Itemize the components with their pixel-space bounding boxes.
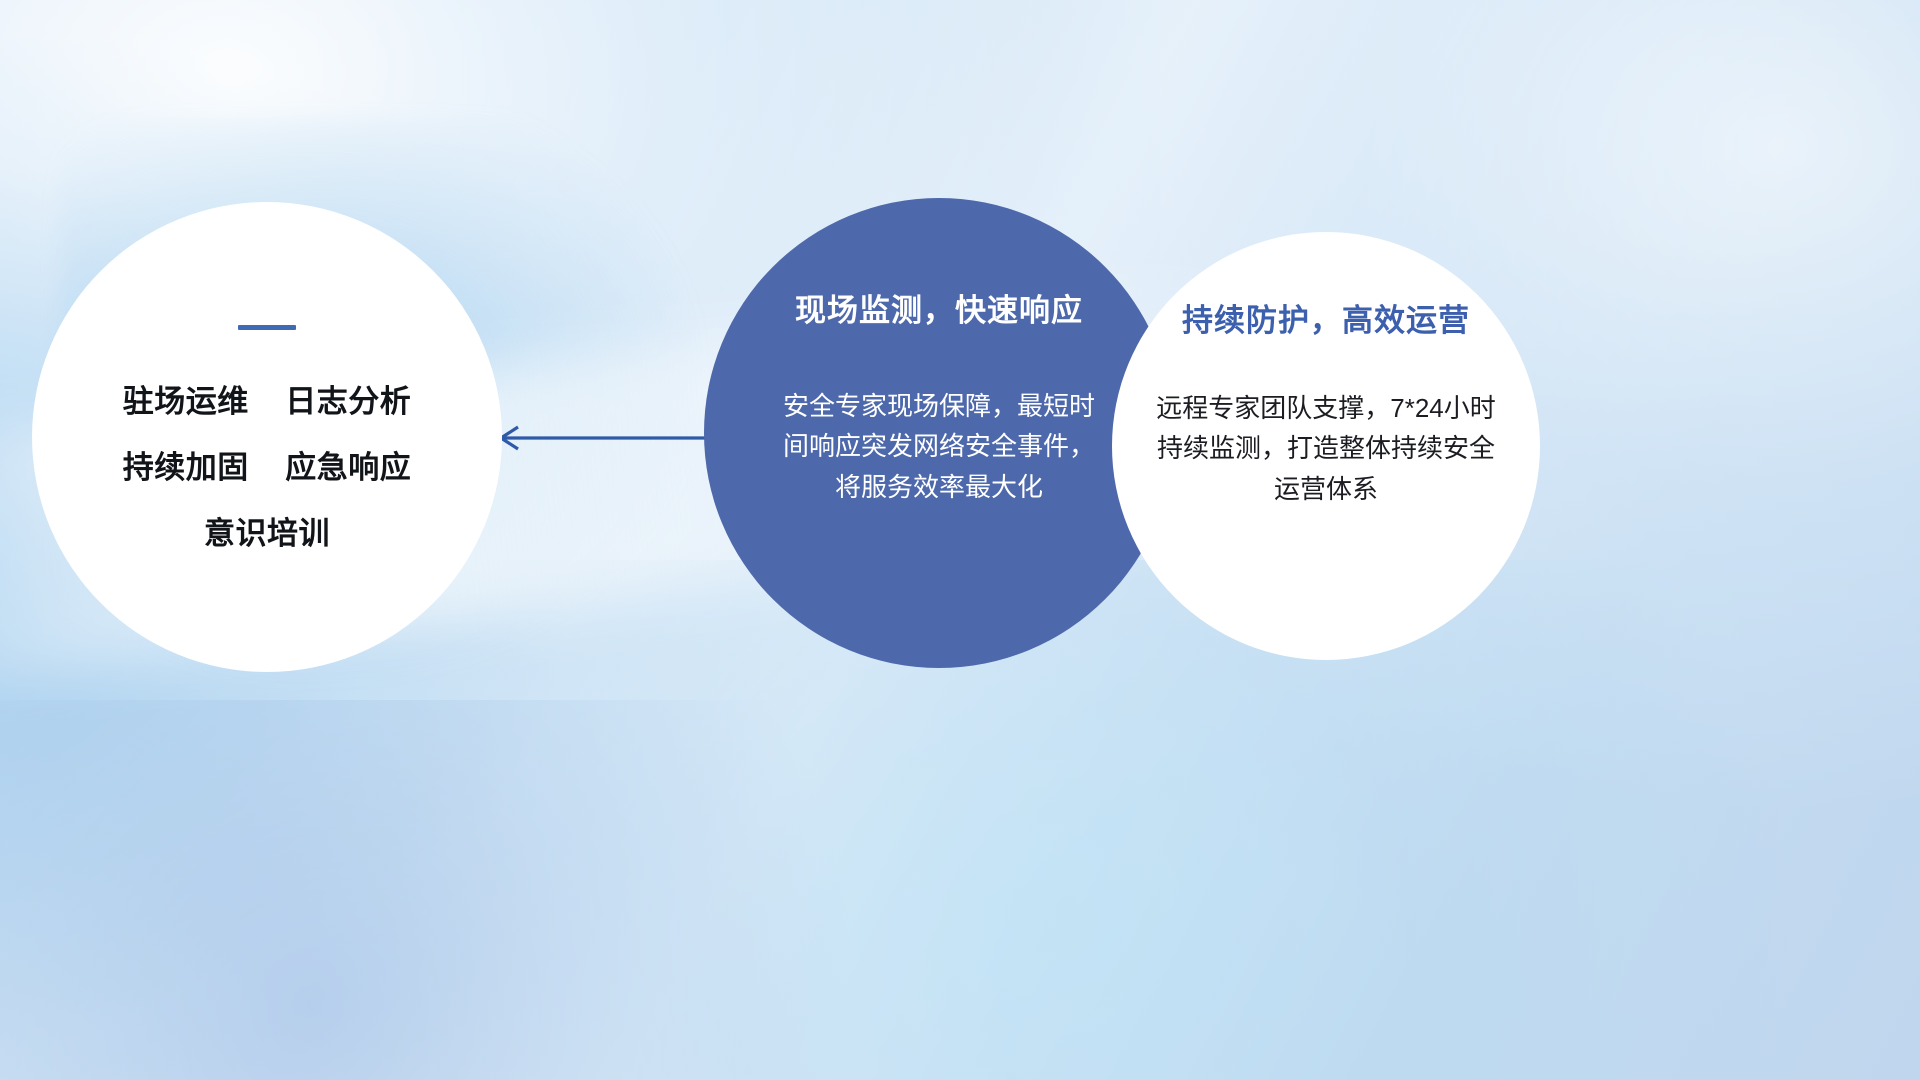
dash-divider-icon: [238, 325, 296, 330]
capability-tag-line-2: 持续加固 应急响应: [123, 452, 411, 483]
feature-body-continuous: 远程专家团队支撑，7*24小时持续监测，打造整体持续安全运营体系: [1150, 388, 1502, 509]
slide-canvas: 驻场运维 日志分析 持续加固 应急响应 意识培训 现场监测，快速响应 安全专家现…: [0, 0, 1920, 1080]
background-glow-bottom-left: [0, 700, 860, 1080]
feature-title-onsite: 现场监测，快速响应: [795, 294, 1083, 328]
capability-circle-left[interactable]: 驻场运维 日志分析 持续加固 应急响应 意识培训: [32, 202, 502, 672]
feature-title-continuous: 持续防护，高效运营: [1182, 304, 1470, 338]
left-arrow-icon: [488, 418, 738, 458]
feature-circle-continuous[interactable]: 持续防护，高效运营 远程专家团队支撑，7*24小时持续监测，打造整体持续安全运营…: [1112, 232, 1540, 660]
capability-tag-line-1: 驻场运维 日志分析: [123, 386, 411, 417]
feature-body-onsite: 安全专家现场保障，最短时间响应突发网络安全事件，将服务效率最大化: [779, 386, 1099, 507]
feature-circle-onsite[interactable]: 现场监测，快速响应 安全专家现场保障，最短时间响应突发网络安全事件，将服务效率最…: [704, 198, 1174, 668]
capability-tag-line-3: 意识培训: [204, 518, 330, 549]
